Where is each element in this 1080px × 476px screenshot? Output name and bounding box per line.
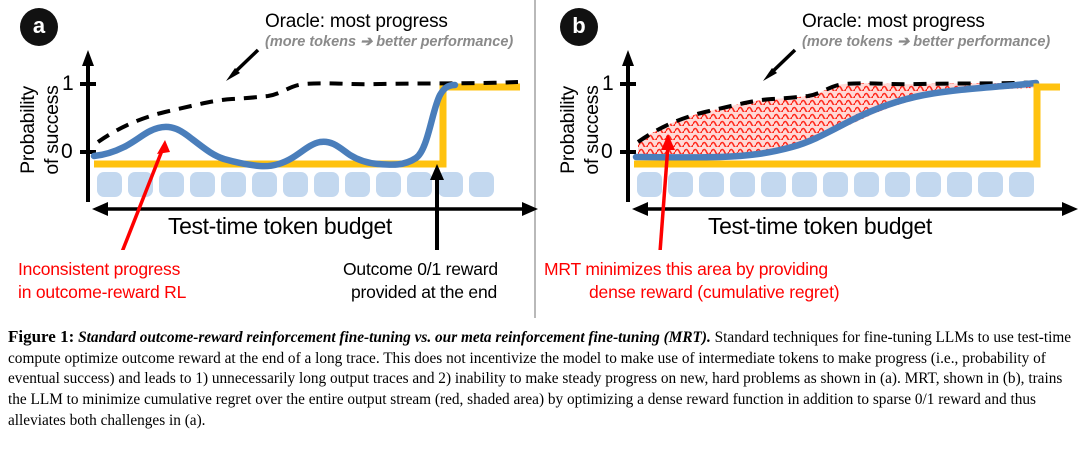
panel-a-y-axis	[80, 50, 96, 202]
panel-a: a Oracle: most progress (more tokens ➔ b…	[0, 0, 540, 318]
panel-a-oracle-pointer-arrow	[226, 50, 258, 81]
panel-a-x-axis-label: Test-time token budget	[168, 213, 392, 240]
panel-b-y-axis	[620, 50, 636, 202]
panel-a-reward-pointer-arrow	[430, 164, 444, 250]
caption-figure-number: Figure 1:	[8, 327, 74, 346]
panel-a-oracle-curve	[98, 82, 518, 142]
panel-b-regret-shaded-area	[638, 82, 1034, 157]
panel-b-oracle-pointer-arrow	[763, 50, 795, 81]
panel-a-policy-curve	[94, 85, 455, 166]
panel-a-note-black-line1: Outcome 0/1 reward	[343, 258, 498, 280]
panel-b-note-red-line1: MRT minimizes this area by providing	[544, 258, 828, 280]
panel-b-token-boxes	[637, 172, 1034, 197]
panel-a-note-red-line1: Inconsistent progress	[18, 258, 180, 280]
figure-caption: Figure 1: Standard outcome-reward reinfo…	[8, 326, 1072, 431]
panel-a-note-red-line2: in outcome-reward RL	[18, 281, 186, 303]
panel-b-note-red-line2: dense reward (cumulative regret)	[589, 281, 839, 303]
caption-title: Standard outcome-reward reinforcement fi…	[78, 329, 711, 346]
panel-b-x-axis-label: Test-time token budget	[708, 213, 932, 240]
panel-b: b Oracle: most progress (more tokens ➔ b…	[540, 0, 1080, 318]
panel-a-note-black-line2: provided at the end	[351, 281, 497, 303]
figure-graphic: a Oracle: most progress (more tokens ➔ b…	[0, 0, 1080, 318]
